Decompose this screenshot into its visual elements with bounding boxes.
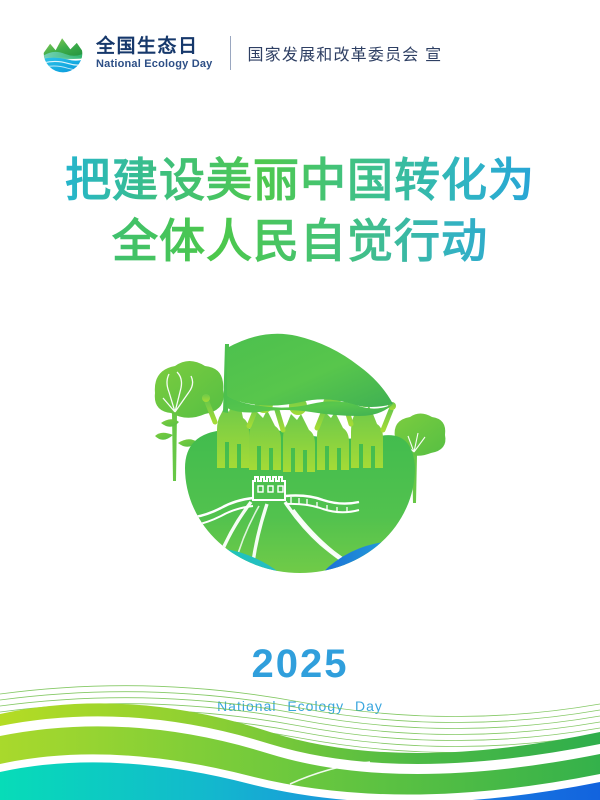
page-title: 把建设美丽中国转化为 全体人民自觉行动 bbox=[0, 150, 600, 272]
poster-canvas: 全国生态日 National Ecology Day 国家发展和改革委员会 宣 … bbox=[0, 0, 600, 800]
national-ecology-day-logo-icon bbox=[40, 30, 86, 76]
ecology-globe-illustration bbox=[145, 318, 455, 608]
logo-title-en: National Ecology Day bbox=[96, 59, 212, 70]
poster-header: 全国生态日 National Ecology Day 国家发展和改革委员会 宣 bbox=[40, 30, 442, 76]
bottom-wave-decoration bbox=[0, 680, 600, 800]
header-divider bbox=[230, 36, 231, 70]
title-line-1: 把建设美丽中国转化为 bbox=[0, 150, 600, 211]
year-label: 2025 bbox=[0, 644, 600, 684]
title-line-2: 全体人民自觉行动 bbox=[0, 211, 600, 272]
waving-flag-icon bbox=[223, 334, 393, 416]
logo-title-cn: 全国生态日 bbox=[96, 37, 212, 56]
logo-wordmark: 全国生态日 National Ecology Day bbox=[96, 37, 212, 70]
issuing-agency-label: 国家发展和改革委员会 宣 bbox=[247, 41, 442, 65]
